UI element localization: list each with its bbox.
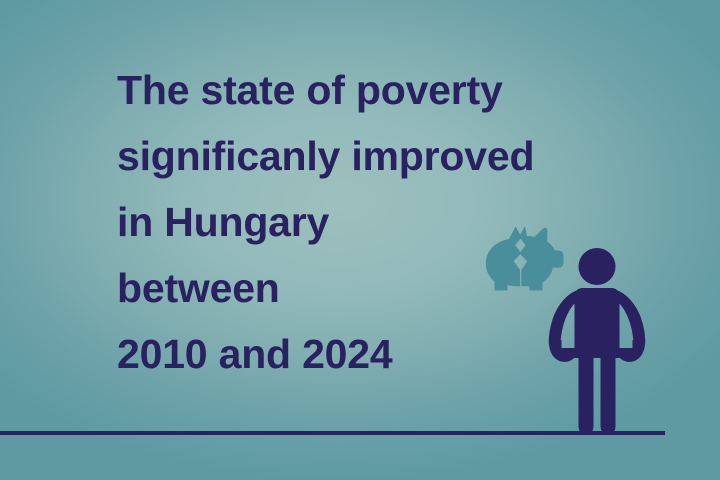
title-line-1: The state of poverty [117,57,637,123]
title-slide: The state of poverty significanly improv… [0,0,720,480]
standing-person-icon [548,248,646,436]
baseline-rule [0,431,665,435]
title-line-2: significanly improved [117,123,637,189]
